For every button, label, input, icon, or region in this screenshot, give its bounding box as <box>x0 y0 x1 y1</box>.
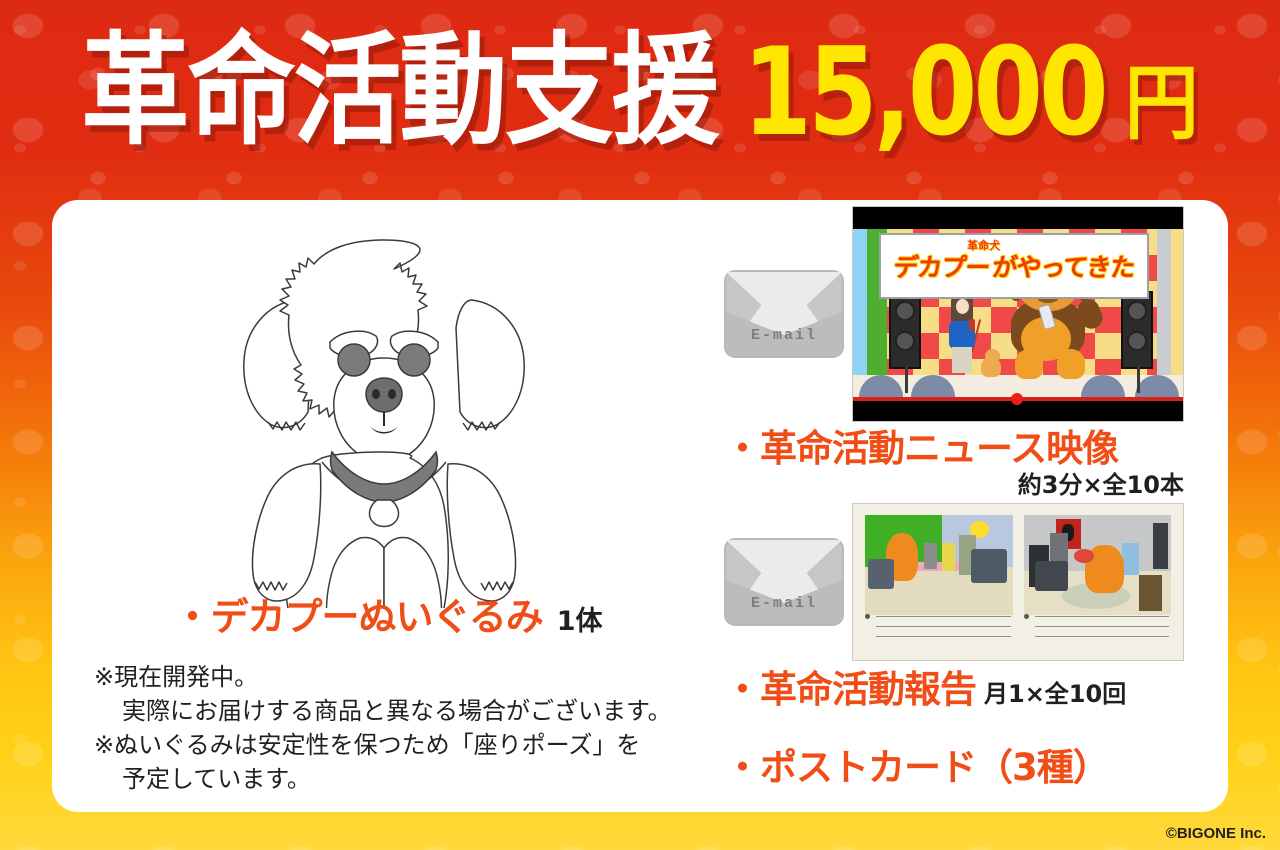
plush-notes: ※現在開発中。 実際にお届けする商品と異なる場合がございます。 ※ぬいぐるみは安… <box>94 660 704 796</box>
reward-news-video: E-mail <box>724 206 1228 497</box>
report-text-lines <box>865 612 1171 650</box>
reward-subtitle: 月1×全10回 <box>984 682 1126 706</box>
note-line: ※ぬいぐるみは安定性を保つため「座りポーズ」を <box>94 728 704 762</box>
report-photos <box>865 515 1171 615</box>
video-progress-bar[interactable] <box>853 397 1183 401</box>
stage-banner-tail-text: がやってきた <box>991 248 1137 284</box>
reward-activity-report-title-row: ・革命活動報告 月1×全10回 <box>724 671 1228 710</box>
envelope-label: E-mail <box>724 595 844 612</box>
video-screen: 革命犬 デカプー がやってきた <box>853 229 1183 401</box>
header-banner: 革命活動支援 15,000 円 <box>0 0 1280 196</box>
poster-canvas: 革命活動支援 15,000 円 <box>0 0 1280 850</box>
stage-banner: 革命犬 デカプー がやってきた <box>879 233 1149 299</box>
video-progress-handle[interactable] <box>1011 393 1023 405</box>
stage-presenter <box>945 291 979 377</box>
reward-news-video-media: E-mail <box>724 206 1228 422</box>
reward-activity-report: E-mail <box>724 503 1228 710</box>
email-envelope-icon: E-mail <box>724 538 844 626</box>
video-thumbnail[interactable]: 革命犬 デカプー がやってきた <box>852 206 1184 422</box>
email-envelope-icon: E-mail <box>724 270 844 358</box>
price-currency: 円 <box>1125 38 1199 156</box>
report-photo-shoot <box>1024 515 1172 615</box>
report-newsletter[interactable] <box>852 503 1184 661</box>
note-line: 予定しています。 <box>94 762 704 796</box>
reward-postcard: ・ポストカード（3種） <box>724 749 1228 788</box>
reward-title: ・革命活動報告 <box>724 671 976 710</box>
report-photo-studio <box>865 515 1013 615</box>
plush-label: ・デカプーぬいぐるみ <box>173 598 542 636</box>
reward-subtitle: 約3分×全10本 <box>724 473 1184 497</box>
reward-postcard-title-row: ・ポストカード（3種） <box>724 749 1228 788</box>
plush-caption: ・デカプーぬいぐるみ 1体 <box>52 598 724 636</box>
stage-banner-main-text: デカプー <box>892 248 992 284</box>
note-line: 実際にお届けする商品と異なる場合がございます。 <box>94 694 704 728</box>
plush-column: ・デカプーぬいぐるみ 1体 ※現在開発中。 実際にお届けする商品と異なる場合がご… <box>52 200 724 812</box>
page-title: 革命活動支援 <box>81 32 717 153</box>
reward-card: ・デカプーぬいぐるみ 1体 ※現在開発中。 実際にお届けする商品と異なる場合がご… <box>52 200 1228 812</box>
reward-activity-report-media: E-mail <box>724 503 1228 661</box>
note-line: ※現在開発中。 <box>94 660 704 694</box>
plush-quantity: 1体 <box>557 608 603 635</box>
rewards-column: E-mail <box>724 200 1228 812</box>
copyright-notice: ©BIGONE Inc. <box>1166 825 1266 842</box>
reward-title: ・ポストカード（3種） <box>724 749 1109 788</box>
dekapoo-plush-line-art <box>184 208 584 608</box>
envelope-label: E-mail <box>724 327 844 344</box>
price-amount: 15,000 <box>743 31 1105 153</box>
reward-news-video-title-row: ・革命活動ニュース映像 <box>724 430 1228 469</box>
reward-title: ・革命活動ニュース映像 <box>724 430 1118 469</box>
